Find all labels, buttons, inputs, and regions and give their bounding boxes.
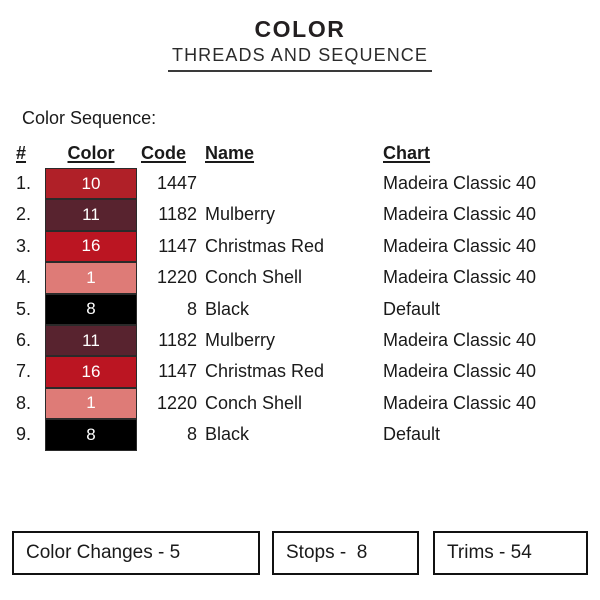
row-text-group: 1220Conch ShellMadeira Classic 40 <box>0 266 600 290</box>
row-text-group: 1220Conch ShellMadeira Classic 40 <box>0 392 600 416</box>
cell-code: 1147 <box>141 360 197 382</box>
cell-code: 8 <box>141 423 197 445</box>
cell-name: Conch Shell <box>205 266 380 288</box>
cell-code: 1220 <box>141 266 197 288</box>
cell-code: 1182 <box>141 203 197 225</box>
row-text-group: 8BlackDefault <box>0 423 600 447</box>
table-row[interactable]: 85.8BlackDefault <box>0 294 600 325</box>
cell-chart: Default <box>383 298 593 320</box>
row-text-group: 1182MulberryMadeira Classic 40 <box>0 329 600 353</box>
column-header-number: # <box>16 142 42 164</box>
cell-name: Mulberry <box>205 203 380 225</box>
cell-name: Black <box>205 298 380 320</box>
row-text-group: 1182MulberryMadeira Classic 40 <box>0 203 600 227</box>
table-body: 101.1447Madeira Classic 40112.1182Mulber… <box>0 168 600 451</box>
row-text-group: 8BlackDefault <box>0 298 600 322</box>
summary-box-stops-label: Stops - 8 <box>274 541 367 565</box>
cell-code: 1447 <box>141 172 197 194</box>
cell-code: 1182 <box>141 329 197 351</box>
row-text-group: 1147Christmas RedMadeira Classic 40 <box>0 235 600 259</box>
cell-chart: Madeira Classic 40 <box>383 266 593 288</box>
table-header-row: # Color Code Name Chart <box>0 142 600 168</box>
column-header-name: Name <box>205 142 380 164</box>
page-subtitle-underline: THREADS AND SEQUENCE <box>168 44 432 72</box>
table-row[interactable]: 163.1147Christmas RedMadeira Classic 40 <box>0 231 600 262</box>
summary-footer: Color Changes - 5 Stops - 8 Trims - 54 <box>0 531 600 577</box>
column-header-code: Code <box>141 142 197 164</box>
table-row[interactable]: 167.1147Christmas RedMadeira Classic 40 <box>0 356 600 387</box>
table-row[interactable]: 112.1182MulberryMadeira Classic 40 <box>0 199 600 230</box>
cell-name: Conch Shell <box>205 392 380 414</box>
cell-chart: Madeira Classic 40 <box>383 172 593 194</box>
row-text-group: 1147Christmas RedMadeira Classic 40 <box>0 360 600 384</box>
row-text-group: 1447Madeira Classic 40 <box>0 172 600 196</box>
cell-name: Black <box>205 423 380 445</box>
color-sequence-label: Color Sequence: <box>22 107 156 129</box>
column-header-chart: Chart <box>383 142 593 164</box>
cell-code: 1147 <box>141 235 197 257</box>
column-header-color: Color <box>45 142 137 164</box>
table-row[interactable]: 116.1182MulberryMadeira Classic 40 <box>0 325 600 356</box>
cell-chart: Madeira Classic 40 <box>383 203 593 225</box>
summary-box-color-changes-label: Color Changes - 5 <box>14 541 180 565</box>
cell-chart: Madeira Classic 40 <box>383 392 593 414</box>
cell-code: 1220 <box>141 392 197 414</box>
cell-chart: Madeira Classic 40 <box>383 235 593 257</box>
page-subtitle: THREADS AND SEQUENCE <box>172 44 428 66</box>
table-row[interactable]: 101.1447Madeira Classic 40 <box>0 168 600 199</box>
table-row[interactable]: 14.1220Conch ShellMadeira Classic 40 <box>0 262 600 293</box>
summary-box-trims-label: Trims - 54 <box>435 541 532 565</box>
summary-box-trims: Trims - 54 <box>433 531 588 575</box>
summary-box-stops: Stops - 8 <box>272 531 419 575</box>
table-row[interactable]: 89.8BlackDefault <box>0 419 600 450</box>
color-sequence-table: # Color Code Name Chart 101.1447Madeira … <box>0 142 600 451</box>
summary-box-color-changes: Color Changes - 5 <box>12 531 260 575</box>
cell-chart: Default <box>383 423 593 445</box>
page-header: COLOR THREADS AND SEQUENCE <box>0 16 600 72</box>
table-row[interactable]: 18.1220Conch ShellMadeira Classic 40 <box>0 388 600 419</box>
cell-name: Christmas Red <box>205 360 380 382</box>
page-title: COLOR <box>0 16 600 42</box>
cell-code: 8 <box>141 298 197 320</box>
cell-name: Christmas Red <box>205 235 380 257</box>
cell-name: Mulberry <box>205 329 380 351</box>
cell-chart: Madeira Classic 40 <box>383 360 593 382</box>
cell-chart: Madeira Classic 40 <box>383 329 593 351</box>
